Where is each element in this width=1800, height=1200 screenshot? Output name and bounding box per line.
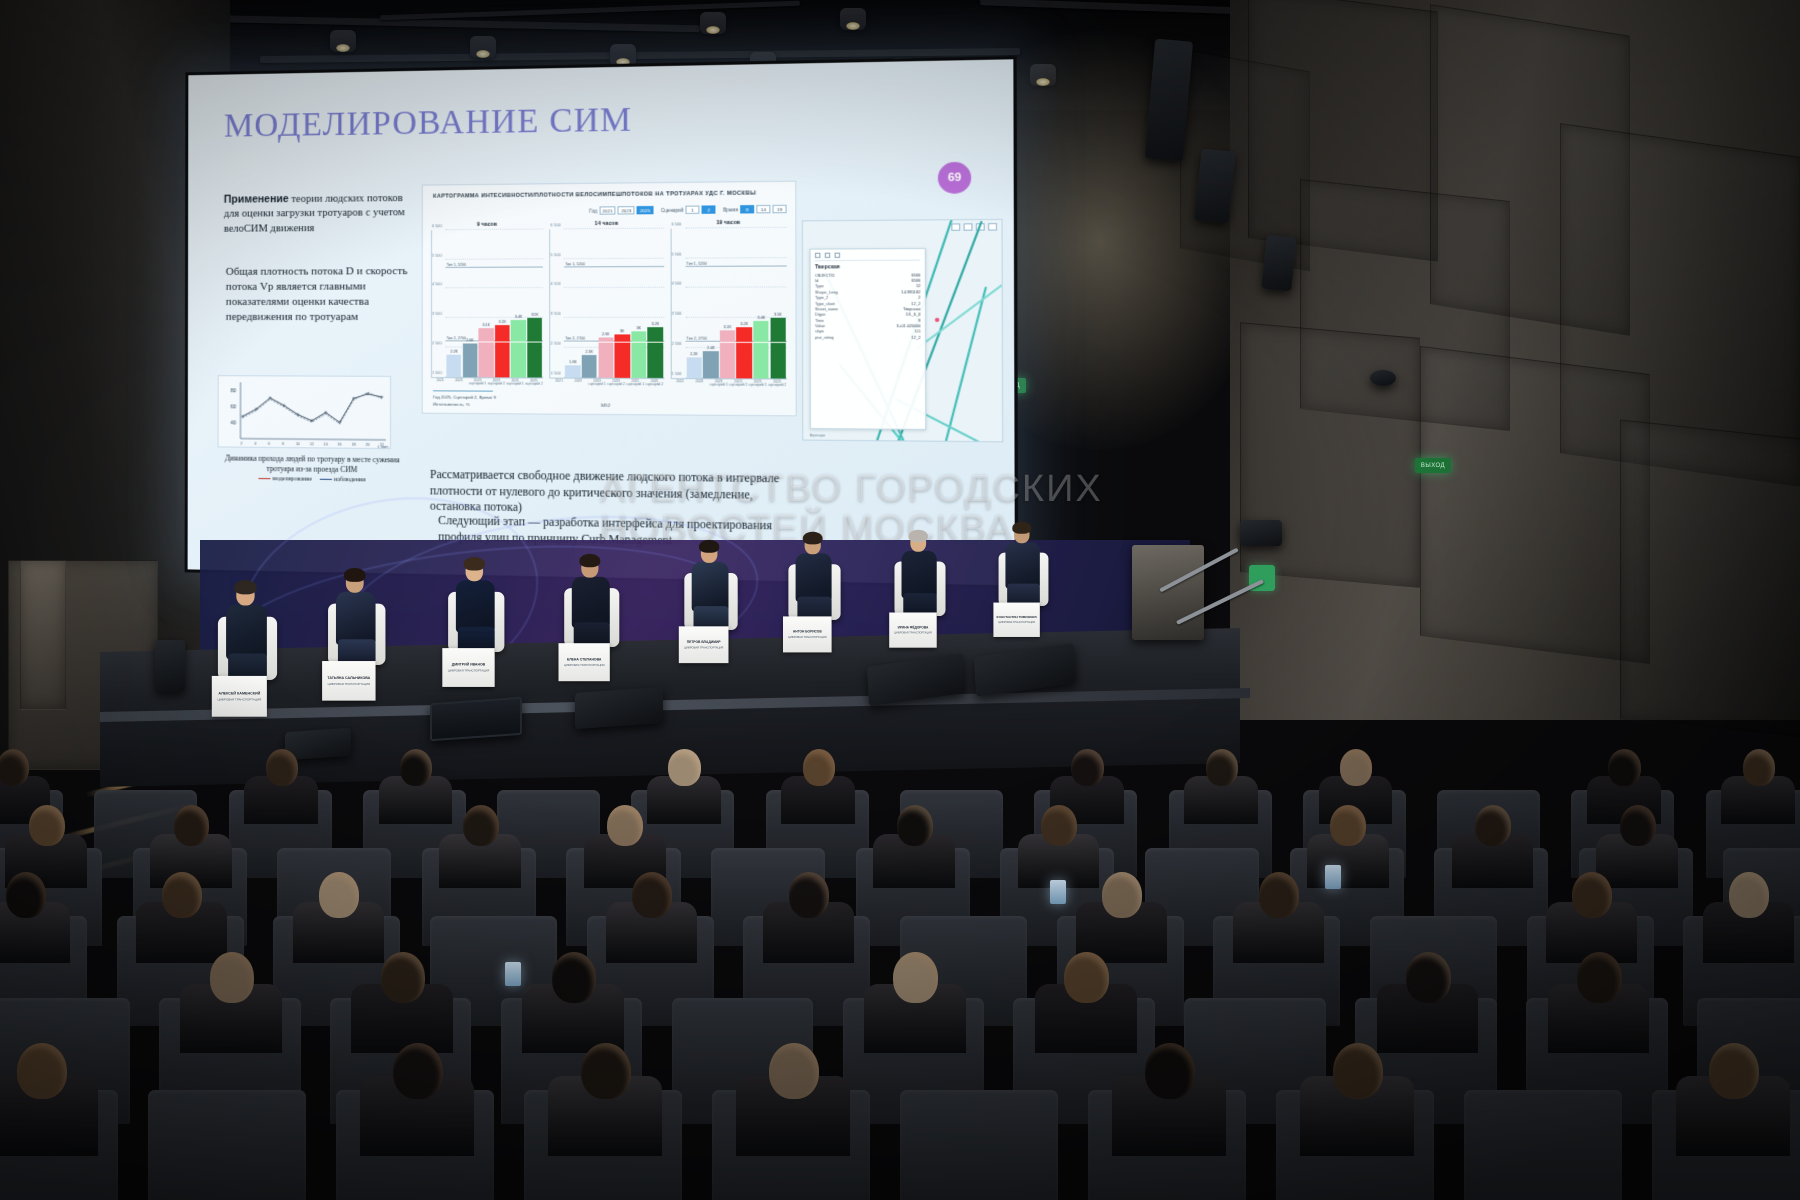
y-axis-tick: 4 500 xyxy=(432,283,442,287)
projection-screen: МОДЕЛИРОВАНИЕ СИМ 69 3 Применение теории… xyxy=(185,56,1019,589)
legend-item-model: моделирование xyxy=(258,476,311,485)
attribute-key: OBJECTID xyxy=(815,273,835,277)
attribute-row: pse_string12_2 xyxy=(815,335,920,341)
year-chip-2021[interactable]: 2021 xyxy=(599,206,616,214)
bar[interactable]: 3К xyxy=(631,331,646,377)
audience-member-head xyxy=(581,1043,631,1100)
bar[interactable]: 2.2К xyxy=(686,357,701,378)
panelist-name: АНТОН БОРИСОВ xyxy=(793,630,822,634)
bar-chart-row: 9 часов1 5002 5003 5004 5005 5006 500Тип… xyxy=(431,219,787,388)
panelist-name: КОНСТАНТИН ТИМОФЕЕВ xyxy=(997,615,1037,619)
cartogram-heading: КАРТОГРАММА ИНТЕСИВНОСТИ/ПЛОТНОСТИ ВЕЛОС… xyxy=(433,190,784,200)
x-axis-tick: 2023сценарий 1 xyxy=(588,379,607,387)
bar-threshold-marker xyxy=(598,342,613,343)
scenario-filter[interactable]: Сценарий 1 2 xyxy=(661,205,716,214)
map-fullscreen-icon[interactable] xyxy=(988,223,997,230)
bar-threshold-marker xyxy=(527,342,542,343)
audience-member-head xyxy=(1064,952,1109,1003)
panelist-torso xyxy=(1005,542,1039,588)
x-axis-tick: 2021 xyxy=(550,379,569,387)
attribute-value: D1_6_0 xyxy=(906,313,920,317)
panelist-org: ЦИФРОВАЯ ТРАНСПОРТАЦИЯ xyxy=(564,664,605,667)
line-x-tick: 20 xyxy=(366,443,370,447)
map-layers-icon[interactable] xyxy=(951,223,960,230)
audience-member-head xyxy=(1259,872,1299,918)
footer-metric-value: 3452 xyxy=(600,403,610,408)
bar-threshold-marker xyxy=(463,342,478,343)
bar-value-label: 3.1К xyxy=(479,323,494,327)
line-x-tick: 8 xyxy=(282,442,284,446)
time-chip-19[interactable]: 19 xyxy=(773,205,787,213)
x-axis-tick: 2025сценарий 2 xyxy=(767,380,787,388)
scenario-chip-2[interactable]: 2 xyxy=(702,205,716,213)
attribute-value: 14.991182 xyxy=(901,290,920,294)
attribute-value: Тверская xyxy=(903,307,920,311)
line-chart-caption-text: Динамика прохода людей по тротуару в мес… xyxy=(225,454,400,474)
stage-spotlight xyxy=(470,36,496,58)
map-zoom-icon[interactable] xyxy=(964,223,973,230)
audience-member-head xyxy=(769,1043,819,1100)
bar[interactable]: 3.2К xyxy=(737,327,753,378)
footer-metric: Интенсивность, % 3452 xyxy=(433,402,610,408)
panelist-hair xyxy=(699,540,719,553)
panelist-nameplate: ПЕТРОВ ВЛАДИМИРЦИФРОВАЯ ТРАНСПОРТАЦИЯ xyxy=(679,626,729,663)
audience-member-head xyxy=(400,749,432,786)
intro-lead: Применение xyxy=(224,193,289,206)
bar-item[interactable]: 2.6К xyxy=(463,230,478,377)
bar[interactable]: 3.1К xyxy=(720,330,736,378)
attribute-panel-toolbar[interactable] xyxy=(815,252,920,261)
footer-metric-label: Интенсивность, % xyxy=(433,402,470,407)
audience-member-head xyxy=(1577,952,1622,1003)
x-axis-tick: 2023сценарий 2 xyxy=(487,379,506,387)
x-axis-tick: 2023сценарий 1 xyxy=(709,380,728,388)
attribute-value: 2 xyxy=(918,296,920,300)
panelist-hair xyxy=(579,554,600,567)
audience-member-head xyxy=(1145,1043,1195,1100)
bar-chart-plot: 1 5002 5003 5004 5005 5006 500Тип 1, 520… xyxy=(670,228,787,379)
x-axis-tick: 2023сценарий 1 xyxy=(468,379,487,387)
y-axis-tick: 6 500 xyxy=(432,224,442,228)
line-x-tick: 2 xyxy=(240,442,242,446)
bar-chart-1: 9 часов1 5002 5003 5004 5005 5006 500Тип… xyxy=(431,221,543,386)
audience-member-head xyxy=(162,872,202,918)
panelist-nameplate: АНТОН БОРИСОВЦИФРОВАЯ ТРАНСПОРТАЦИЯ xyxy=(783,616,832,652)
audience-member-head xyxy=(1406,952,1451,1003)
audience-member-head xyxy=(6,872,46,918)
bar-value-label: 3.2К xyxy=(495,319,510,323)
audience-member-head xyxy=(1071,749,1103,786)
bar-value-label: 3.4К xyxy=(511,315,526,319)
bar-threshold-marker xyxy=(737,342,753,343)
panelist-hair xyxy=(909,530,928,542)
audience-member-head xyxy=(1620,805,1656,846)
bar-series: 1.9К2.3К2.9К3К3К3.2К xyxy=(565,229,663,378)
bar[interactable]: 3.4К xyxy=(753,321,769,378)
time-chip-14[interactable]: 14 xyxy=(756,205,770,213)
scenario-chip-1[interactable]: 1 xyxy=(686,206,700,214)
bar-series: 2.2К2.4К3.1К3.2К3.4К3.5К xyxy=(686,228,786,378)
bar-item[interactable]: 3.1К xyxy=(479,230,494,377)
bar-item[interactable]: 2.2К xyxy=(446,230,461,377)
audience-member-head xyxy=(552,952,597,1003)
line-chart-caption: Динамика прохода людей по тротуару в мес… xyxy=(212,453,414,486)
bar[interactable]: 3.5К xyxy=(770,318,786,378)
audience-member-head xyxy=(1041,805,1077,846)
attribute-key: Type xyxy=(815,285,824,289)
bar[interactable]: 2.4К xyxy=(703,351,718,378)
bar-value-label: 2.2К xyxy=(686,352,701,356)
footer-divider xyxy=(433,390,493,391)
bar[interactable]: 3.5К xyxy=(527,318,542,377)
attribute-value: 9 xyxy=(918,318,920,322)
y-axis-tick: 2 500 xyxy=(671,342,681,346)
pan-icon[interactable] xyxy=(825,253,830,258)
attribute-key: pse_string xyxy=(815,335,834,339)
bar[interactable]: 3К xyxy=(615,334,630,377)
more-options-icon[interactable] xyxy=(835,253,840,258)
legend-item-observed: наблюдения xyxy=(320,477,366,485)
audience-phone-screen xyxy=(505,962,521,986)
stage-spotlight xyxy=(1030,64,1056,86)
attribute-key: Type_2 xyxy=(815,296,828,300)
attribute-value: 6566 xyxy=(911,273,920,277)
bar-item[interactable]: 3.1К xyxy=(720,228,736,378)
exit-sign-right: ВЫХОД xyxy=(1415,458,1451,473)
panelist-name: ДМИТРИЙ ИВАНОВ xyxy=(452,662,485,666)
attribute-key: Dtype xyxy=(815,313,826,317)
map-toolbar[interactable] xyxy=(951,223,997,231)
bar[interactable]: 2.9К xyxy=(598,337,613,377)
y-axis-tick: 1 500 xyxy=(671,371,681,375)
x-axis-tick: 2023 xyxy=(569,379,588,387)
panelist-name: ТАТЬЯНА САЛЬНИКОВА xyxy=(327,676,370,680)
attribute-key: Time xyxy=(815,319,824,323)
attribute-rows: OBJECTID6566Id6566Type12Shape_Leng14.991… xyxy=(815,272,921,340)
bar-value-label: 3.2К xyxy=(648,322,663,326)
bar-chart-plot: 1 5002 5003 5004 5005 5006 500Тип 1, 520… xyxy=(550,229,664,379)
line-x-tick: 4 xyxy=(254,442,256,446)
svg-text:60: 60 xyxy=(231,404,237,410)
panelist-name: ЕЛЕНА СТЕПАНОВА xyxy=(567,657,601,661)
panelist-name: АЛЕКСЕЙ КАМЕНСКИЙ xyxy=(218,691,260,695)
x-axis-tick: 2021 xyxy=(431,379,450,387)
year-chip-2023[interactable]: 2023 xyxy=(618,206,635,214)
bar-item[interactable]: 2.2К xyxy=(686,228,702,377)
gis-map-panel[interactable]: Тверская OBJECTID6566Id6566Type12Shape_L… xyxy=(802,219,1003,443)
y-axis-tick: 2 500 xyxy=(551,341,561,345)
slide-title: МОДЕЛИРОВАНИЕ СИМ xyxy=(224,102,632,146)
intro-paragraph: Применение теории людских потоков для оц… xyxy=(224,191,411,237)
attribute-value: 12_2 xyxy=(911,301,920,305)
bar-chart-plot: 1 5002 5003 5004 5005 5006 500Тип 1, 520… xyxy=(431,230,543,379)
attribute-key: Shape_Leng xyxy=(815,290,838,294)
audience-member-head xyxy=(1333,1043,1383,1100)
panelist-org: ЦИФРОВАЯ ТРАНСПОРТАЦИЯ xyxy=(328,683,370,686)
audience-member-head xyxy=(393,1043,443,1100)
bar-threshold-marker xyxy=(631,342,646,343)
y-axis-tick: 1 500 xyxy=(432,371,442,375)
audience-member-head xyxy=(1330,805,1366,846)
legend-swatch-observed xyxy=(320,479,332,480)
bar-threshold-marker xyxy=(720,342,735,343)
feature-title: Тверская xyxy=(815,264,920,271)
bar-item[interactable]: 3.5К xyxy=(770,228,786,378)
bar-item[interactable]: 2.4К xyxy=(703,228,719,378)
bar-item[interactable]: 2.9К xyxy=(598,229,613,377)
audience-member-head xyxy=(668,749,700,786)
svg-text:40: 40 xyxy=(231,420,237,426)
attribute-value: 3+01.020000 xyxy=(897,324,921,328)
attribute-value: 12 xyxy=(916,284,921,288)
map-selected-node xyxy=(935,318,939,322)
panelist-org: ЦИФРОВАЯ ТРАНСПОРТАЦИЯ xyxy=(448,669,490,672)
bar-threshold-marker xyxy=(686,342,701,343)
legend-swatch-model xyxy=(258,478,270,479)
bar-chart-3: 19 часов1 5002 5003 5004 5005 5006 500Ти… xyxy=(670,219,787,388)
bar-threshold-marker xyxy=(479,342,494,343)
panelist-nameplate: ТАТЬЯНА САЛЬНИКОВАЦИФРОВАЯ ТРАНСПОРТАЦИЯ xyxy=(322,661,375,701)
presentation-slide: МОДЕЛИРОВАНИЕ СИМ 69 3 Применение теории… xyxy=(188,59,1015,585)
audience-member-head xyxy=(266,749,298,786)
stage-spotlight xyxy=(330,30,356,52)
bar[interactable]: 3.2К xyxy=(495,325,510,377)
time-chip-9[interactable]: 9 xyxy=(740,205,754,213)
bar-threshold-marker xyxy=(615,342,630,343)
audience-member-head xyxy=(893,952,938,1003)
cartogram-footer: Год 2025, Сценарий 2, Время 9 Интенсивно… xyxy=(433,390,785,409)
density-paragraph: Общая плотность потока D и скорость пото… xyxy=(226,264,420,325)
audience-member-head xyxy=(319,872,359,918)
attribute-value: D1 xyxy=(915,330,920,334)
conference-hall-photo: ВЫХОД ВЫХОД МОДЕЛИРОВАНИЕ СИМ 69 3 Приме… xyxy=(0,0,1800,1200)
bar-item[interactable]: 3.4К xyxy=(511,230,526,377)
audience-member-head xyxy=(29,805,65,846)
panelist-org: ЦИФРОВАЯ ТРАНСПОРТАЦИЯ xyxy=(998,621,1035,624)
bar[interactable]: 2.6К xyxy=(463,343,478,377)
bar-chart-title: 9 часов xyxy=(431,221,543,228)
panelist-hair xyxy=(803,532,823,545)
bar-threshold-marker xyxy=(446,342,461,343)
x-axis-labels: 202120232023сценарий 12023сценарий 22025… xyxy=(670,380,787,388)
bar[interactable]: 3.1К xyxy=(479,328,494,377)
panelist-torso xyxy=(226,605,267,660)
attribute-value: 12_2 xyxy=(911,336,920,340)
bar-threshold-marker xyxy=(753,342,769,343)
bar-item[interactable]: 3К xyxy=(614,229,629,378)
audience-member-head xyxy=(381,952,426,1003)
wall-panel xyxy=(20,560,66,710)
bar-chart-title: 19 часов xyxy=(670,219,786,226)
bar-chart-2: 14 часов1 5002 5003 5004 5005 5006 500Ти… xyxy=(550,220,664,387)
attribute-key: shpn xyxy=(815,330,824,334)
panelist-hair xyxy=(464,557,485,571)
cartogram-card: КАРТОГРАММА ИНТЕСИВНОСТИ/ПЛОТНОСТИ ВЕЛОС… xyxy=(422,181,797,417)
line-chart-svg: 80 60 40 246810121416182022 t, мин xyxy=(219,376,392,450)
cartogram-filters[interactable]: Год 2021 2023 2025 Сценарий 1 2 Время 9 … xyxy=(589,205,786,215)
zoom-to-feature-icon[interactable] xyxy=(815,253,820,258)
bar-item[interactable]: 3.2К xyxy=(647,229,662,378)
bar-item[interactable]: 2.3К xyxy=(582,229,597,377)
audience-member-head xyxy=(789,872,829,918)
x-axis-tick: 2025сценарий 1 xyxy=(748,380,768,388)
audience-member-head xyxy=(632,872,672,918)
bar-item[interactable]: 3.5К xyxy=(527,230,542,378)
attribute-value: 6566 xyxy=(911,279,920,283)
y-axis-tick: 5 500 xyxy=(551,253,561,257)
panelist-torso xyxy=(456,580,495,632)
map-attribution: Агрегация xyxy=(810,433,825,437)
x-axis-tick: 2025сценарий 1 xyxy=(506,379,525,387)
bar[interactable]: 2.3К xyxy=(582,355,597,378)
wall-panel xyxy=(1240,322,1420,588)
svg-text:80: 80 xyxy=(231,388,237,394)
stage-spotlight xyxy=(700,12,726,34)
x-axis-tick: 2023 xyxy=(690,380,709,388)
y-axis-tick: 2 500 xyxy=(432,341,442,345)
bar-threshold-marker xyxy=(648,342,663,343)
audience-phone-screen xyxy=(1050,880,1066,904)
panelist-org: ЦИФРОВАЯ ТРАНСПОРТАЦИЯ xyxy=(684,646,723,649)
scenario-filter-label: Сценарий xyxy=(661,207,684,212)
x-axis-tick: 2025сценарий 1 xyxy=(626,380,645,388)
panelist-torso xyxy=(692,562,729,612)
audience-member-head xyxy=(210,952,255,1003)
panelist-nameplate: ИРИНА ФЁДОРОВАЦИФРОВАЯ ТРАНСПОРТАЦИЯ xyxy=(889,612,937,647)
lectern xyxy=(1132,545,1204,640)
bar-value-label: 1.9К xyxy=(565,360,580,364)
panelist-hair xyxy=(344,568,366,582)
bar-threshold-marker xyxy=(511,342,526,343)
y-axis-tick: 5 500 xyxy=(432,253,442,257)
feature-attribute-panel[interactable]: Тверская OBJECTID6566Id6566Type12Shape_L… xyxy=(810,248,927,430)
x-axis-labels: 202120232023сценарий 12023сценарий 22025… xyxy=(550,379,664,387)
x-axis-tick: 2025сценарий 2 xyxy=(524,379,543,387)
legend-label-observed: наблюдения xyxy=(334,477,365,483)
attribute-key: Value xyxy=(815,324,825,328)
y-axis-tick: 1 500 xyxy=(551,371,561,375)
line-x-tick: 18 xyxy=(352,443,356,447)
y-axis-tick: 4 500 xyxy=(551,282,561,286)
bar-value-label: 2.9К xyxy=(598,332,613,336)
audience-member-head xyxy=(1709,1043,1759,1100)
x-axis-tick: 2021 xyxy=(670,380,689,388)
bar-item[interactable]: 3К xyxy=(631,229,646,378)
year-filter[interactable]: Год 2021 2023 2025 xyxy=(589,206,653,215)
panelist-nameplate: КОНСТАНТИН ТИМОФЕЕВЦИФРОВАЯ ТРАНСПОРТАЦИ… xyxy=(993,603,1039,637)
audience-seat xyxy=(1464,1090,1622,1200)
attribute-key: Street_name xyxy=(815,307,838,311)
bar-value-label: 3.5К xyxy=(527,313,542,317)
line-chart-legend: моделирование наблюдения xyxy=(212,476,414,486)
audience-member-head xyxy=(1608,749,1640,786)
attribute-key: Id xyxy=(815,279,818,283)
bar-value-label: 3.4К xyxy=(753,316,769,320)
line-array-speaker xyxy=(1261,235,1296,292)
y-axis-tick: 3 500 xyxy=(551,312,561,316)
y-axis-tick: 6 500 xyxy=(671,222,681,226)
x-axis-labels: 202120232023сценарий 12023сценарий 22025… xyxy=(431,379,543,387)
audience-member-head xyxy=(1102,872,1142,918)
bar-value-label: 2.3К xyxy=(582,350,597,354)
y-axis-tick: 6 500 xyxy=(551,223,561,227)
line-x-tick: 6 xyxy=(268,442,270,446)
ceiling-camera xyxy=(1370,370,1396,386)
svg-text:t, мин: t, мин xyxy=(378,444,389,449)
panelist-torso xyxy=(572,577,610,628)
panelist-name: ИРИНА ФЁДОРОВА xyxy=(898,625,929,629)
bar-item[interactable]: 3.2К xyxy=(736,228,752,378)
attribute-key: Type_short xyxy=(815,302,835,306)
panelist-name: ПЕТРОВ ВЛАДИМИР xyxy=(687,640,721,644)
panelist-torso xyxy=(902,551,937,599)
map-street-line xyxy=(934,286,987,442)
y-axis-tick: 3 500 xyxy=(432,312,442,316)
line-x-tick: 10 xyxy=(296,442,300,446)
bar-item[interactable]: 3.2К xyxy=(495,230,510,377)
panelist-hair xyxy=(1012,522,1031,534)
audience-area xyxy=(0,700,1800,1200)
audience-member-head xyxy=(463,805,499,846)
x-axis-tick: 2025сценарий 2 xyxy=(645,380,664,388)
audience-seat xyxy=(148,1090,306,1200)
time-filter[interactable]: Время 9 14 19 xyxy=(723,205,786,214)
bar-threshold-marker xyxy=(582,342,597,343)
panelist-hair xyxy=(234,580,256,594)
audience-member-head xyxy=(897,805,933,846)
legend-label-model: моделирование xyxy=(273,476,312,483)
line-x-tick: 12 xyxy=(310,442,314,446)
bar[interactable]: 3.4К xyxy=(511,320,526,377)
y-axis-tick: 3 500 xyxy=(671,312,681,316)
bar-chart-title: 14 часов xyxy=(550,220,664,227)
audience-phone-screen xyxy=(1325,865,1341,889)
bar-threshold-marker xyxy=(703,342,718,343)
wall-panel xyxy=(1420,346,1650,664)
bar-item[interactable]: 1.9К xyxy=(565,229,580,377)
panelist-org: ЦИФРОВАЯ ТРАНСПОРТАЦИЯ xyxy=(894,632,932,635)
panelist-torso xyxy=(336,592,376,645)
line-x-tick: 16 xyxy=(338,442,342,446)
audience-member-head xyxy=(174,805,210,846)
y-axis-tick: 5 500 xyxy=(671,252,681,256)
bar[interactable]: 2.2К xyxy=(446,355,461,377)
audience-member-head xyxy=(803,749,835,786)
bar[interactable]: 3.2К xyxy=(648,327,663,378)
x-axis-tick: 2023сценарий 2 xyxy=(607,380,626,388)
audience-member-head xyxy=(1572,872,1612,918)
bar-threshold-marker xyxy=(770,342,786,343)
bar-threshold-marker xyxy=(565,342,580,343)
line-x-tick: 14 xyxy=(324,442,328,446)
bar-item[interactable]: 3.4К xyxy=(753,228,769,378)
bar-value-label: 3.5К xyxy=(770,313,786,317)
audience-member-head xyxy=(0,749,29,786)
panelist-org: ЦИФРОВАЯ ТРАНСПОРТАЦИЯ xyxy=(788,636,827,639)
time-filter-label: Время xyxy=(723,207,738,212)
year-chip-2025[interactable]: 2025 xyxy=(637,206,654,214)
audience-member-head xyxy=(17,1043,67,1100)
audience-seat xyxy=(900,1090,1058,1200)
bar-value-label: 3К xyxy=(631,326,646,330)
bar-value-label: 2.4К xyxy=(703,346,718,350)
panelist-nameplate: ДМИТРИЙ ИВАНОВЦИФРОВАЯ ТРАНСПОРТАЦИЯ xyxy=(442,648,494,687)
audience-member-head xyxy=(1475,805,1511,846)
bar-value-label: 2.2К xyxy=(446,350,461,354)
bar[interactable]: 1.9К xyxy=(565,365,580,377)
bar-threshold-marker xyxy=(495,342,510,343)
bar-value-label: 3К xyxy=(615,329,630,333)
